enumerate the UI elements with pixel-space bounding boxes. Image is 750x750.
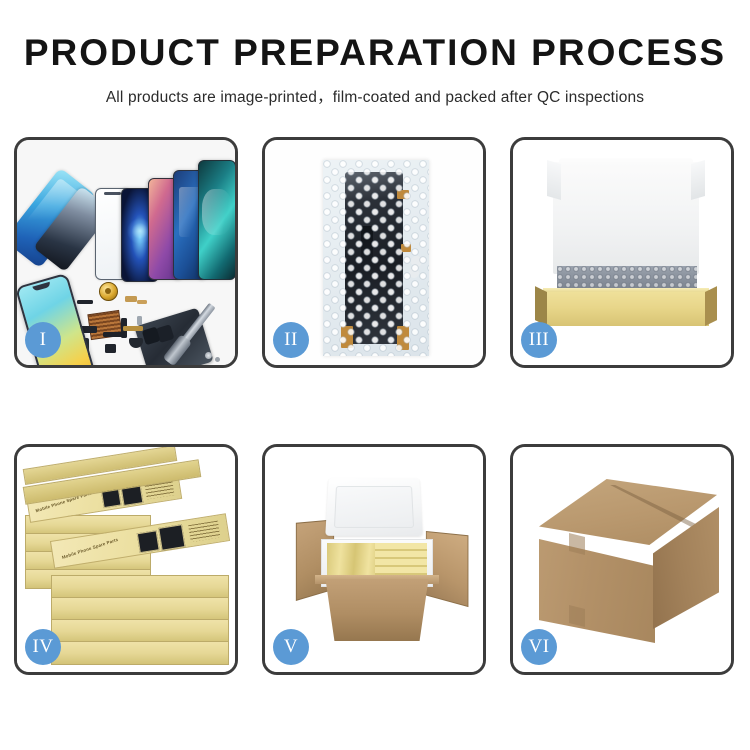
kraft-box-front <box>543 292 709 326</box>
step-badge-1: I <box>25 322 61 358</box>
page-header: PRODUCT PREPARATION PROCESS All products… <box>0 0 750 107</box>
step-badge-4: IV <box>25 629 61 665</box>
page-title: PRODUCT PREPARATION PROCESS <box>0 34 750 71</box>
process-step-panel-2[interactable]: II <box>262 137 486 368</box>
gold-coil-icon <box>99 282 118 301</box>
part-icon <box>103 332 125 337</box>
inner-boxes-packed <box>327 543 427 579</box>
step-badge-2: II <box>273 322 309 358</box>
box-spec-lines <box>188 521 220 542</box>
process-step-panel-5[interactable]: V <box>262 444 486 675</box>
process-step-panel-4[interactable]: Mobile Phone Spare Parts Mobile Phone Sp… <box>14 444 238 675</box>
box-window <box>158 524 185 550</box>
process-step-grid: I II III <box>14 137 736 675</box>
process-step-panel-3[interactable]: III <box>510 137 734 368</box>
part-icon <box>137 316 142 325</box>
part-icon <box>123 326 143 331</box>
process-step-panel-1[interactable]: I <box>14 137 238 368</box>
phone-display-teal-icon <box>198 160 235 280</box>
styrofoam-lid <box>325 478 423 536</box>
stacked-box <box>51 641 229 665</box>
foam-sheet <box>553 162 699 274</box>
part-icon <box>105 344 116 353</box>
bubble-texture <box>323 160 429 356</box>
part-icon <box>125 296 137 302</box>
part-icon <box>137 300 147 304</box>
carton-front <box>321 579 433 641</box>
stacked-box <box>51 575 229 599</box>
carton-tape-icon <box>569 605 585 627</box>
page-subtitle: All products are image-printed，film-coat… <box>0 85 750 107</box>
screws-icon <box>205 352 212 359</box>
box-label-text: Mobile Phone Spare Parts <box>61 537 119 560</box>
carton-tape-icon <box>569 533 585 555</box>
step-badge-3: III <box>521 322 557 358</box>
step-badge-5: V <box>273 629 309 665</box>
part-icon <box>77 300 93 304</box>
bubble-wrap-bag <box>323 160 429 356</box>
carton-left-face <box>539 539 655 643</box>
process-step-panel-6[interactable]: VI <box>510 444 734 675</box>
step-badge-6: VI <box>521 629 557 665</box>
stacked-box <box>51 619 229 643</box>
stacked-box <box>51 597 229 621</box>
box-window <box>137 530 160 553</box>
